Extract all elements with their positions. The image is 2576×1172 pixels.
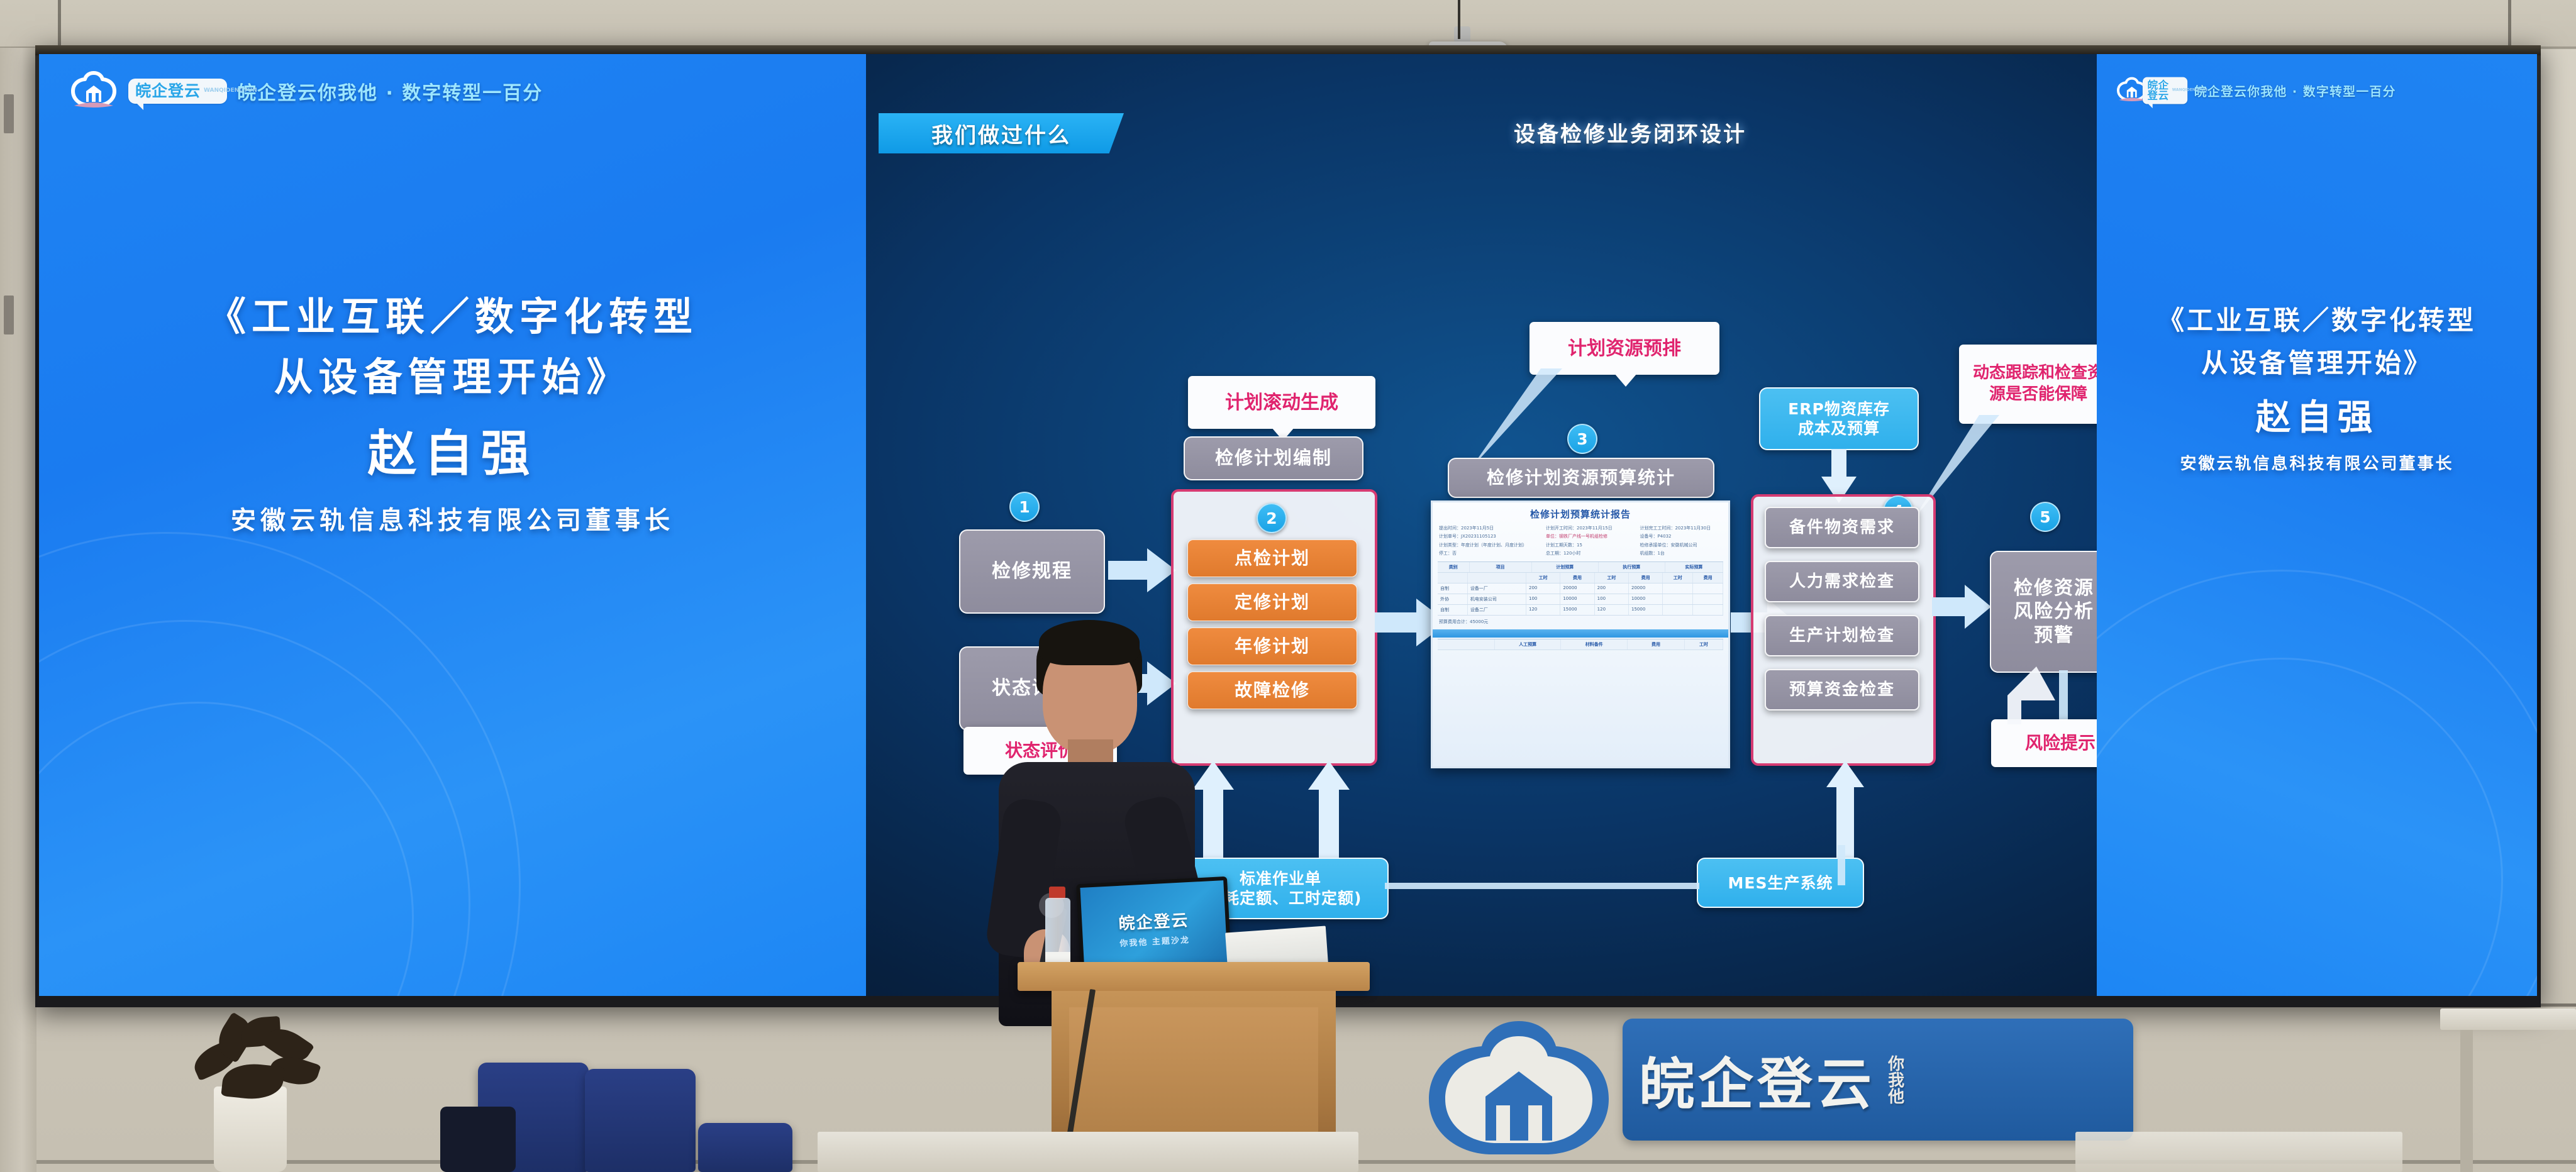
left-speaker-name: 赵自强 [39,407,866,500]
report-cell-r2c3: 15000 [1560,605,1594,615]
podium-top-surface [1018,962,1370,991]
report-col-category: 类别 [1438,562,1470,572]
sign-plate: 皖企登云 你我他 [1623,1019,2133,1141]
left-title-panel: 皖企登云 WANQIDENGYUN 皖企登云你我他 · 数字转型一百分 《工业互… [39,54,866,996]
report-cell-r2c6 [1663,605,1693,615]
report-sub-blank-1 [1438,573,1468,583]
report-footer: 预算费用合计：45000元 [1433,616,1728,626]
report-meta-right-2: 检修承接单位：安徽机械公司 [1640,541,1722,550]
slide-section-tab: 我们做过什么 [879,113,1124,153]
report-title: 检修计划预算统计报告 [1433,507,1728,521]
audience-chair-shadow [440,1107,516,1172]
left-brand-row: 皖企登云 WANQIDENGYUN 皖企登云你我他 · 数字转型一百分 [69,70,543,112]
brand-chip-sub: WANQIDENGYUN [2172,88,2183,92]
node-inspection-rules: 检修规程 [959,529,1105,614]
report-meta-right-3: 机组数：1台 [1640,550,1722,558]
left-title-line-2: 从设备管理开始》 [39,347,866,407]
report-cell-r1c1: 机电安装公司 [1468,594,1526,604]
report-meta-right-0: 计划完工工时间：2023年11月30日 [1640,524,1722,533]
report-colgroup-actual: 实际预算 [1665,562,1723,572]
potted-plant-foliage [189,1017,321,1105]
cloud-logo-icon [69,70,118,112]
wall-pilaster-left [0,48,36,1172]
step-badge-3: 3 [1567,424,1597,454]
table-row: 自制 设备一厂 200 20000 200 20000 [1438,583,1723,594]
brand-chip: 皖企登云 WANQIDENGYUN [2143,77,2187,104]
wall-vent-slot-lower [4,296,14,334]
slide-section-tab-label: 我们做过什么 [931,118,1071,149]
report-meta-left-0: 提出时间：2023年11月5日 [1439,524,1538,533]
report-cell-r2c4: 120 [1595,605,1629,615]
node-production-plan-check: 生产计划检查 [1765,615,1919,656]
report-colgroup-planned: 计划预算 [1532,562,1599,572]
report-cell-r0c3: 20000 [1560,583,1594,594]
arrow-mes-to-plans [1304,761,1353,871]
ceiling-band [0,0,2576,48]
sign-cloud-icon [1415,1011,1623,1162]
step-badge-1: 1 [1009,492,1040,522]
arrow-rules-to-plans [1108,546,1177,595]
right-brand-tagline: 皖企登云你我他 · 数字转型一百分 [2194,81,2396,99]
left-title-line-1: 《工业互联／数字化转型 [39,287,866,347]
report-sub-blank-2 [1468,573,1526,583]
step-badge-5: 5 [2030,502,2060,532]
report-cell-r0c4: 200 [1595,583,1629,594]
report-tab-band [1433,629,1728,638]
audience-chair-3 [698,1123,792,1172]
connector-rail-mes [1838,845,1845,885]
arrow-risk-callout [2007,666,2064,724]
report-lower-colgroup-hours: 工时 [1685,639,1723,650]
camera-mount [1454,26,1470,43]
node-plan-spot-check: 点检计划 [1187,539,1357,577]
report-cell-r1c6 [1663,594,1693,604]
brand-chip: 皖企登云 WANQIDENGYUN [128,79,227,104]
connector-rail-worksheet [1385,883,1699,889]
table-row: 外协 机电安装公司 100 10000 100 10000 [1438,594,1723,605]
report-cell-r0c6 [1663,583,1693,594]
report-table-subheader: 工时 费用 工时 费用 工时 费用 [1438,573,1723,583]
side-table-right [2440,1009,2576,1030]
right-panel-title: 《工业互联／数字化转型 从设备管理开始》 赵自强 安徽云轨信息科技有限公司董事长 [2097,299,2537,478]
led-screen: 皖企登云 WANQIDENGYUN 皖企登云你我他 · 数字转型一百分 《工业互… [39,54,2537,996]
report-sub-cost-2: 费用 [1629,573,1663,583]
brand-chip-main: 皖企登云 [135,83,201,99]
report-lower-colgroup-cost: 费用 [1628,639,1685,650]
node-risk-analysis-alert-label: 检修资源 风险分析 预警 [2014,577,2094,647]
arrow-mes-to-resources [1823,761,1868,860]
node-budget-funds-check: 预算资金检查 [1765,669,1919,710]
node-spare-parts-demand: 备件物资需求 [1765,507,1919,548]
report-cell-r0c5: 20000 [1629,583,1663,594]
report-table-group-header: 类别 项目 计划预算 执行预算 实际预算 [1438,562,1723,573]
report-sub-cost-1: 费用 [1560,573,1594,583]
plant-leaf [221,1061,284,1102]
front-table [818,1132,1358,1172]
report-meta-left-3: 停工：否 [1439,550,1538,558]
report-meta: 提出时间：2023年11月5日 计划单号：JX20231105123 计划类型：… [1433,524,1728,558]
node-erp-inventory: ERP物资库存 成本及预算 [1759,387,1919,450]
node-erp-inventory-label: ERP物资库存 成本及预算 [1788,399,1890,438]
left-speaker-affiliation: 安徽云轨信息科技有限公司董事长 [39,500,866,541]
report-meta-mid-2: 计划工期天数：15 [1546,541,1632,550]
presenter-hair-top [1039,620,1140,665]
right-title-line-1: 《工业互联／数字化转型 [2097,299,2537,342]
wall-seam-vertical-right [2508,0,2511,47]
table-row: 自制 设备二厂 120 15000 120 15000 [1438,605,1723,616]
report-meta-mid-3: 总工期：120小时 [1546,550,1632,558]
report-lower-col-type [1438,639,1495,650]
report-lower-colgroup-labor: 人工预算 [1495,639,1562,650]
left-panel-title: 《工业互联／数字化转型 从设备管理开始》 赵自强 安徽云轨信息科技有限公司董事长 [39,287,866,541]
callout-rolling-plan-generation: 计划滚动生成 [1188,376,1375,429]
sign-side-text: 你我他 [1885,1055,1904,1104]
wall-seam-vertical-left [58,0,61,49]
report-cell-r2c0: 自制 [1438,605,1468,615]
report-meta-left-1: 计划单号：JX20231105123 [1439,533,1538,541]
report-cell-r1c0: 外协 [1438,594,1468,604]
ceiling-cable [1458,0,1460,39]
report-cell-r0c1: 设备一厂 [1468,583,1526,594]
report-sub-hours-1: 工时 [1526,573,1560,583]
right-title-panel: 皖企登云 WANQIDENGYUN 皖企登云你我他 · 数字转型一百分 《工业互… [2097,54,2537,996]
laptop-screen-subtitle: 你我他 主题沙龙 [1119,933,1190,949]
report-lower-colgroup-materials: 材料备件 [1561,639,1628,650]
node-plan-scheduled-repair: 定修计划 [1187,583,1357,621]
report-colgroup-executed: 执行预算 [1599,562,1665,572]
report-cell-r1c5: 10000 [1629,594,1663,604]
side-table-leg [2460,1030,2473,1172]
brand-chip-main: 皖企登云 [2147,80,2170,101]
front-table-left [2075,1132,2402,1172]
slide-title: 设备检修业务闭环设计 [1410,117,1850,148]
right-brand-row: 皖企登云 WANQIDENGYUN 皖企登云你我他 · 数字转型一百分 [2116,77,2396,104]
report-cell-r2c1: 设备二厂 [1468,605,1526,615]
report-cell-r0c0: 自制 [1438,583,1468,594]
right-title-line-2: 从设备管理开始》 [2097,342,2537,385]
report-cell-r0c2: 200 [1526,583,1560,594]
brand-chip-sub: WANQIDENGYUN [204,88,220,94]
left-brand-tagline: 皖企登云你我他 · 数字转型一百分 [237,77,543,105]
bottle-cap [1049,887,1065,899]
node-budget-statistics: 检修计划资源预算统计 [1448,458,1714,498]
wall-brand-sign: 皖企登云 你我他 [1415,1003,2182,1161]
report-cell-r1c3: 10000 [1560,594,1594,604]
right-speaker-affiliation: 安徽云轨信息科技有限公司董事长 [2097,451,2537,478]
leader-line-budget-callout [1459,358,1648,472]
report-table: 类别 项目 计划预算 执行预算 实际预算 工时 费用 工时 费用 工时 费用 [1438,561,1723,616]
conference-room-scene: 皖企登云 WANQIDENGYUN 皖企登云你我他 · 数字转型一百分 《工业互… [0,0,2576,1172]
report-cell-r2c2: 120 [1526,605,1560,615]
report-sub-hours-2: 工时 [1595,573,1629,583]
report-cell-r1c4: 100 [1595,594,1629,604]
node-plan-preparation: 检修计划编制 [1184,436,1363,480]
wall-vent-slot-upper [4,94,14,133]
report-lower-group-header: 人工预算 材料备件 费用 工时 [1438,639,1723,650]
report-sub-hours-3: 工时 [1663,573,1693,583]
embedded-report-screenshot: 检修计划预算统计报告 提出时间：2023年11月5日 计划单号：JX202311… [1431,500,1730,768]
report-meta-left-2: 计划类型：年度计划（年度计划、月度计划） [1439,541,1538,550]
cloud-logo-icon [2116,77,2136,104]
report-col-project: 项目 [1470,562,1532,572]
report-cell-r1c7 [1693,594,1723,604]
audience-chair-2 [585,1069,696,1172]
report-meta-mid-1: 单位：钢铁厂产线一号机组检修 [1546,533,1632,541]
report-cell-r0c7 [1693,583,1723,594]
report-meta-mid-0: 计划开工时间：2023年11月15日 [1546,524,1632,533]
report-cell-r2c7 [1693,605,1723,615]
report-cell-r2c5: 15000 [1629,605,1663,615]
right-speaker-name: 赵自强 [2097,385,2537,451]
report-meta-right-1: 设备号：P4032 [1640,533,1722,541]
report-cell-r1c2: 100 [1526,594,1560,604]
report-lower-table: 人工预算 材料备件 费用 工时 [1438,639,1723,650]
step-badge-2: 2 [1257,503,1287,533]
laptop-screen-title: 皖企登云 [1118,907,1189,934]
report-sub-cost-3: 费用 [1693,573,1723,583]
arrow-resources-to-risk [1932,582,1992,631]
sign-main-text: 皖企登云 [1639,1040,1875,1120]
node-manpower-check: 人力需求检查 [1765,561,1919,602]
